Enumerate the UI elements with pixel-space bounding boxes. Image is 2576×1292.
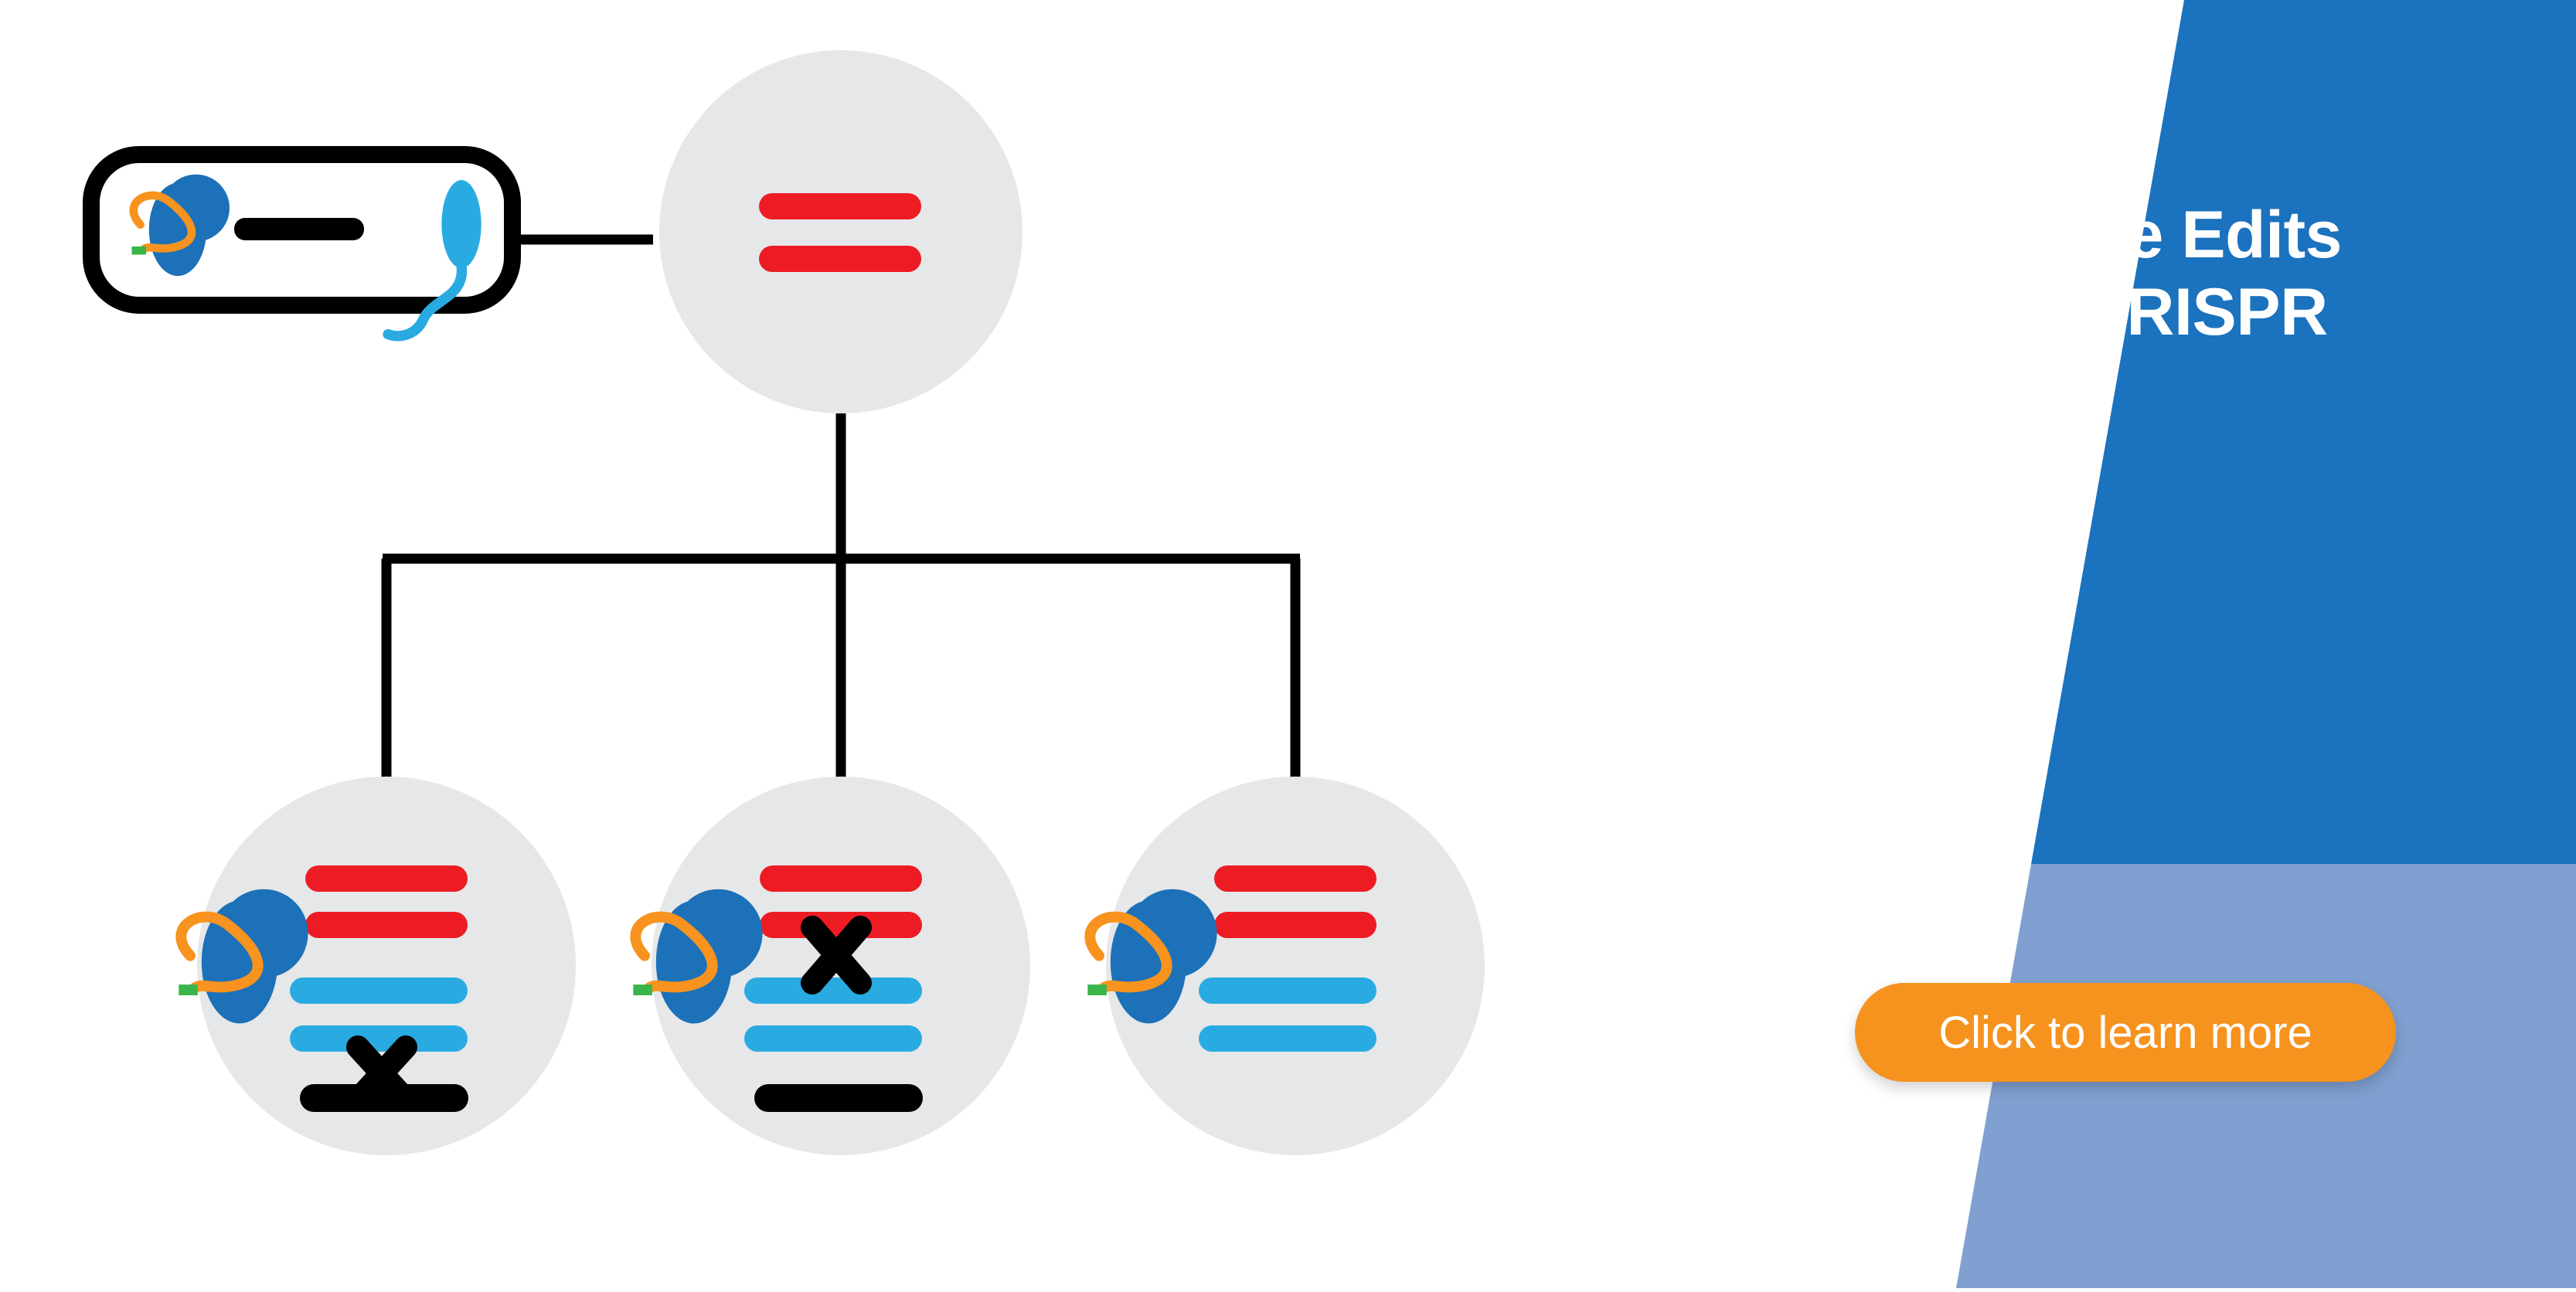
allele-bar-red xyxy=(760,865,922,892)
allele-bar-red xyxy=(1214,912,1376,938)
click-to-learn-more-button[interactable]: Click to learn more xyxy=(1855,983,2396,1082)
allele-bar-red xyxy=(1214,865,1376,892)
allele-bar-black xyxy=(754,1084,923,1112)
fertilization-box xyxy=(91,155,512,336)
parent-node-circle xyxy=(659,50,1023,413)
crispr-inheritance-diagram xyxy=(0,0,1546,1288)
page-title: Human Germline Edits Using CRISPR xyxy=(1878,120,2512,351)
allele-bar-light-blue xyxy=(290,1025,468,1052)
allele-bar-light-blue xyxy=(290,977,468,1004)
allele-bar-light-blue xyxy=(744,1025,922,1052)
child-node-offspring-1 xyxy=(179,777,576,1155)
child-node-offspring-2 xyxy=(633,777,1030,1155)
allele-bar-red xyxy=(759,246,921,272)
allele-bar-light-blue xyxy=(1199,1025,1376,1052)
allele-bar-red xyxy=(305,865,468,892)
edited-dna-strand-icon xyxy=(234,218,364,240)
allele-bar-red xyxy=(759,193,921,219)
tree-connectors xyxy=(383,413,1300,780)
allele-bar-light-blue xyxy=(1199,977,1376,1004)
allele-bar-light-blue xyxy=(744,977,922,1004)
child-node-offspring-3 xyxy=(1087,777,1485,1155)
allele-bar-red xyxy=(305,912,468,938)
parent-node-zygote xyxy=(659,50,1023,413)
